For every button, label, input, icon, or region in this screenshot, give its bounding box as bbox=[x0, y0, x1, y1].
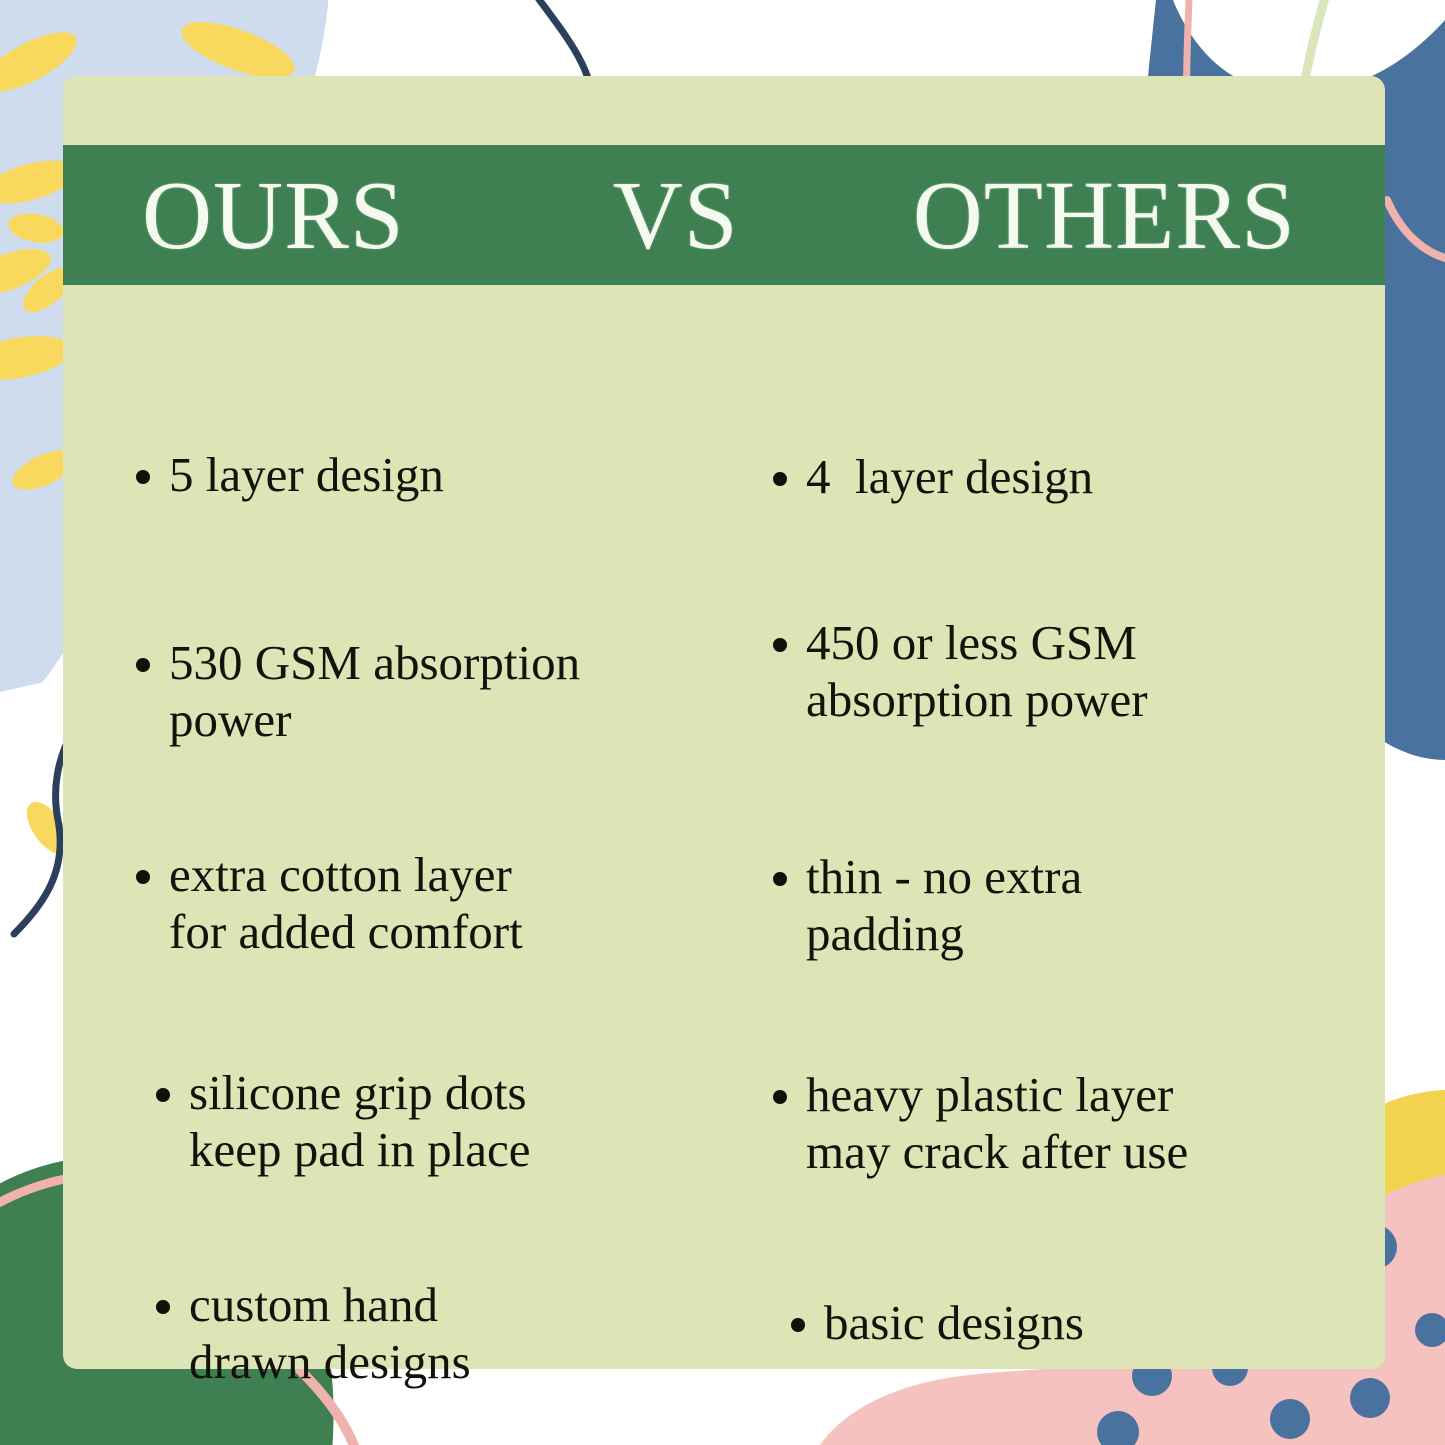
list-item-label: 530 GSM absorption power bbox=[169, 634, 580, 749]
list-item-label: custom hand drawn designs bbox=[189, 1276, 471, 1391]
list-item: silicone grip dots keep pad in place bbox=[156, 1064, 530, 1179]
bullet-dot-icon bbox=[156, 1300, 170, 1314]
bullet-dot-icon bbox=[773, 1090, 787, 1104]
list-item-label: heavy plastic layer may crack after use bbox=[806, 1066, 1188, 1181]
list-item: 5 layer design bbox=[136, 446, 444, 503]
bullet-dot-icon bbox=[136, 470, 150, 484]
list-item-label: extra cotton layer for added comfort bbox=[169, 846, 523, 961]
header-banner: OURS VS OTHERS bbox=[63, 145, 1385, 285]
bullet-dot-icon bbox=[773, 472, 787, 486]
list-item-label: 5 layer design bbox=[169, 446, 444, 503]
list-item-label: silicone grip dots keep pad in place bbox=[189, 1064, 530, 1179]
list-item-label: 450 or less GSM absorption power bbox=[806, 614, 1148, 729]
list-item: 4 layer design bbox=[773, 448, 1093, 505]
list-item: heavy plastic layer may crack after use bbox=[773, 1066, 1188, 1181]
list-item-label: basic designs bbox=[824, 1294, 1084, 1351]
banner-title-others: OTHERS bbox=[913, 167, 1296, 264]
bullet-dot-icon bbox=[773, 872, 787, 886]
bullet-dot-icon bbox=[773, 638, 787, 652]
list-item: thin - no extra padding bbox=[773, 848, 1082, 963]
list-item: 530 GSM absorption power bbox=[136, 634, 580, 749]
list-item-label: thin - no extra padding bbox=[806, 848, 1082, 963]
bullet-dot-icon bbox=[136, 658, 150, 672]
header-banner-inner: OURS VS OTHERS bbox=[124, 167, 1324, 264]
column-ours: 5 layer design 530 GSM absorption power … bbox=[108, 326, 758, 1356]
bullet-dot-icon bbox=[791, 1318, 805, 1332]
list-item: custom hand drawn designs bbox=[156, 1276, 471, 1391]
infographic-canvas: OURS VS OTHERS 5 layer design 530 GSM ab… bbox=[0, 0, 1445, 1445]
banner-title-vs: VS bbox=[613, 167, 739, 264]
list-item: basic designs bbox=[791, 1294, 1084, 1351]
comparison-columns: 5 layer design 530 GSM absorption power … bbox=[63, 326, 1385, 1356]
bullet-dot-icon bbox=[156, 1088, 170, 1102]
list-item: extra cotton layer for added comfort bbox=[136, 846, 523, 961]
list-item: 450 or less GSM absorption power bbox=[773, 614, 1148, 729]
list-item-label: 4 layer design bbox=[806, 448, 1093, 505]
comparison-card: OURS VS OTHERS 5 layer design 530 GSM ab… bbox=[63, 76, 1385, 1369]
column-others: 4 layer design 450 or less GSM absorptio… bbox=[773, 326, 1373, 1356]
bullet-dot-icon bbox=[136, 870, 150, 884]
banner-title-ours: OURS bbox=[142, 167, 405, 264]
